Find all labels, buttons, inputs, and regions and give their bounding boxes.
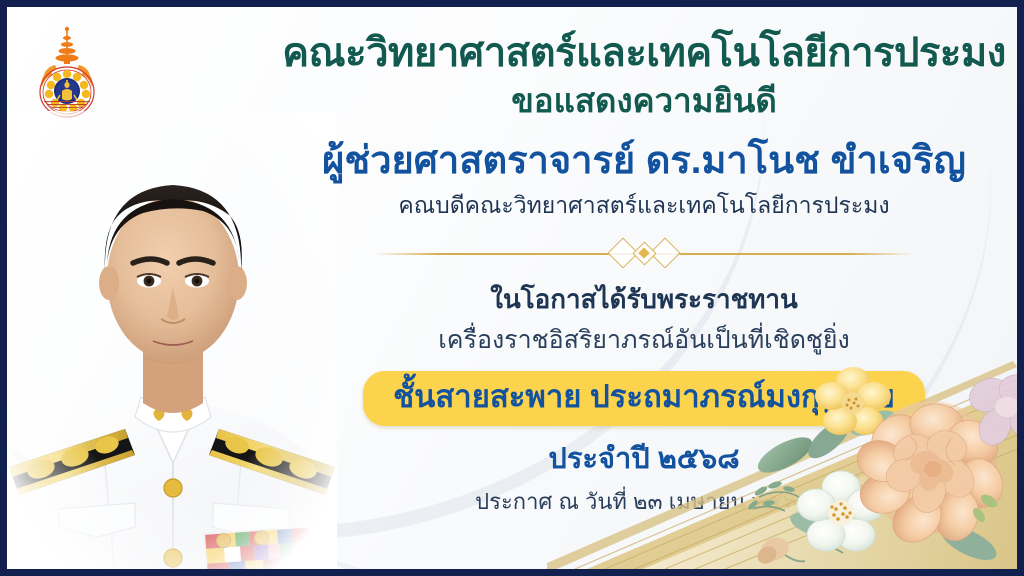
gold-diamond-divider [374, 236, 914, 270]
award-badge: ชั้นสายสะพาย ประถมาภรณ์มงกุฎไทย [363, 371, 925, 426]
award-year: ประจำปี ๒๕๖๘ [548, 442, 739, 477]
heading-congratulations: ขอแสดงความยินดี [511, 82, 777, 120]
occasion-line-2: เครื่องราชอิสริยาภรณ์อันเป็นที่เชิดชูยิ่… [438, 325, 850, 355]
announcement-date: ประกาศ ณ วันที่ ๒๓ เมษายน ๒๕๖๙ [475, 489, 813, 515]
text-content: คณะวิทยาศาสตร์และเทคโนโลยีการประมง ขอแสด… [257, 7, 1017, 569]
honoree-name: ผู้ช่วยศาสตราจารย์ ดร.มาโนช ขำเจริญ [322, 140, 966, 184]
congratulations-banner: คณะวิทยาศาสตร์และเทคโนโลยีการประมง ขอแสด… [0, 0, 1024, 576]
heading-faculty: คณะวิทยาศาสตร์และเทคโนโลยีการประมง [282, 31, 1006, 76]
honoree-position: คณบดีคณะวิทยาศาสตร์และเทคโนโลยีการประมง [398, 192, 889, 220]
occasion-line-1: ในโอกาสได้รับพระราชทาน [490, 284, 797, 315]
banner-canvas: คณะวิทยาศาสตร์และเทคโนโลยีการประมง ขอแสด… [7, 7, 1017, 569]
